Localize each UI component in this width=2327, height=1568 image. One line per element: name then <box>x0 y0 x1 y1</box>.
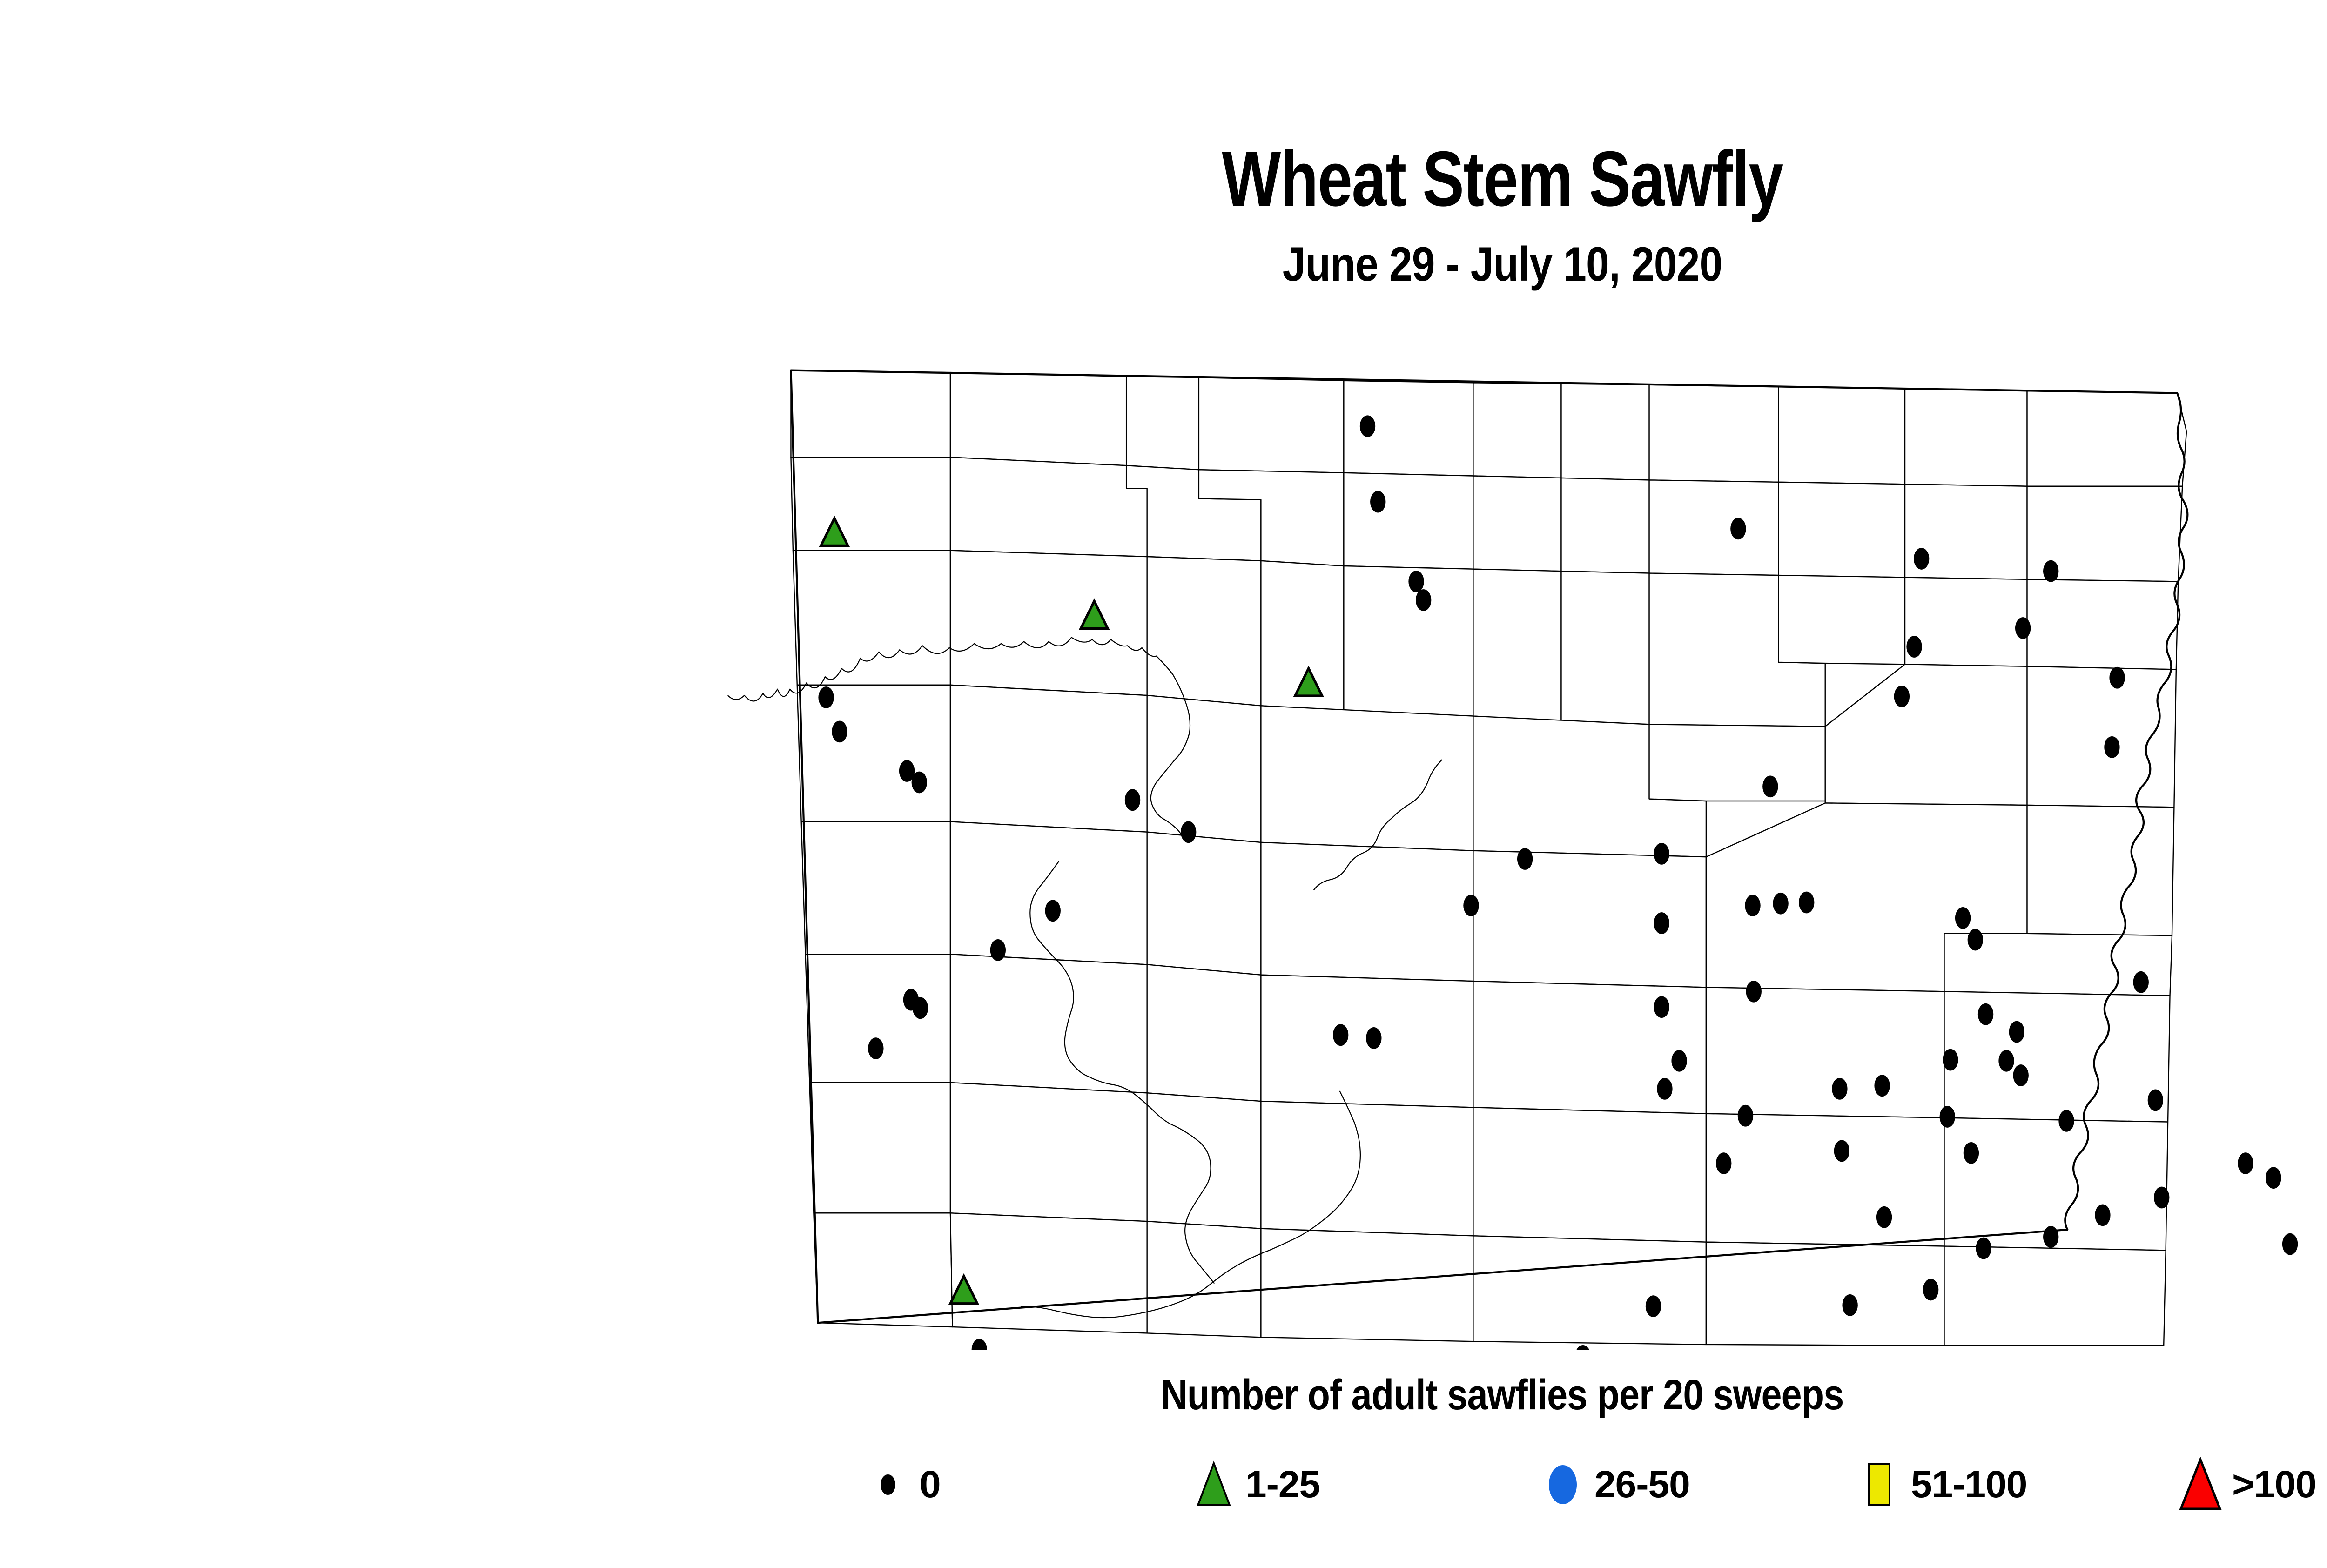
map-marker-0 <box>1976 1238 1991 1259</box>
county <box>1706 987 1944 1117</box>
county <box>797 685 950 822</box>
map-marker-0 <box>1416 589 1431 611</box>
county <box>1344 473 1473 569</box>
map-marker-0 <box>1842 1294 1857 1316</box>
map-marker-0 <box>1654 912 1669 934</box>
legend: 0 1-25 26-50 51-100 >100 <box>866 1440 2253 1529</box>
county <box>1649 480 1779 575</box>
county <box>950 457 1147 557</box>
county <box>1261 842 1473 981</box>
county <box>1706 1114 1944 1246</box>
county <box>791 457 950 550</box>
yellow-square-icon <box>1857 1457 1902 1513</box>
map-marker-0 <box>2133 971 2149 993</box>
map-marker-0 <box>2009 1021 2024 1043</box>
county <box>1473 476 1561 571</box>
map-svg <box>712 354 2327 1350</box>
county <box>1649 724 1825 801</box>
map-marker-0 <box>1799 892 1814 914</box>
map-marker-0 <box>1762 775 1778 797</box>
map-marker-0 <box>1463 895 1479 916</box>
county <box>1261 1101 1473 1236</box>
map-marker-0 <box>972 1339 987 1350</box>
map-marker-0 <box>1408 571 1424 592</box>
county <box>791 370 950 458</box>
map-marker-0 <box>1517 848 1533 870</box>
county <box>2027 391 2187 486</box>
county <box>1126 377 1199 470</box>
county <box>1147 557 1261 706</box>
county <box>1344 566 1473 716</box>
county <box>1561 478 1649 573</box>
county <box>801 821 950 954</box>
map-marker-0 <box>1894 686 1910 707</box>
map-marker-0 <box>1333 1024 1348 1046</box>
map-marker-0 <box>1968 929 1983 951</box>
legend-label-low: 1-25 <box>1245 1463 1320 1507</box>
map-marker-0 <box>1773 893 1788 915</box>
county <box>2027 579 2179 670</box>
county <box>793 551 950 685</box>
map-marker-0 <box>990 939 1006 961</box>
county <box>950 685 1147 832</box>
county <box>1779 575 1905 664</box>
county <box>1905 577 2027 666</box>
map-marker-0 <box>1745 895 1760 916</box>
map-marker-0 <box>1923 1279 1938 1301</box>
title-block: Wheat Stem Sawfly June 29 - July 10, 202… <box>0 140 2327 289</box>
county <box>1147 1221 1261 1337</box>
map-marker-0 <box>1874 1075 1890 1097</box>
map-marker-0 <box>1366 1027 1381 1049</box>
county <box>950 821 1147 964</box>
county <box>950 372 1126 465</box>
county <box>1473 1107 1706 1242</box>
map-marker-0 <box>2238 1152 2253 1174</box>
legend-item-mid[interactable]: 26-50 <box>1540 1440 1690 1529</box>
legend-heading: Number of adult sawflies per 20 sweeps <box>210 1371 2327 1420</box>
county <box>809 1083 950 1213</box>
county <box>1779 482 1905 578</box>
map-marker-0 <box>2266 1167 2281 1189</box>
page-title: Wheat Stem Sawfly <box>301 140 2327 218</box>
county <box>1147 832 1261 975</box>
map-marker-0 <box>1955 907 1971 929</box>
legend-item-zero[interactable]: 0 <box>866 1440 941 1529</box>
legend-item-high[interactable]: 51-100 <box>1857 1440 2027 1529</box>
legend-label-veryhigh: >100 <box>2232 1463 2316 1507</box>
county <box>1649 385 1779 482</box>
map-marker-0 <box>1914 548 1929 570</box>
map-marker-0 <box>1978 1003 1993 1025</box>
county <box>1561 384 1649 480</box>
map-marker-0 <box>1834 1140 1849 1162</box>
county <box>2027 805 2174 935</box>
map-marker-0 <box>1125 789 1140 811</box>
map-marker-0 <box>1746 981 1762 1003</box>
county <box>1473 383 1561 478</box>
legend-item-veryhigh[interactable]: >100 <box>2178 1440 2316 1529</box>
map-marker-0 <box>1370 491 1385 513</box>
map-marker-0 <box>868 1037 883 1059</box>
map-marker-0 <box>2282 1233 2298 1255</box>
county-layer <box>791 370 2186 1346</box>
black-dot-icon <box>866 1457 910 1513</box>
county <box>1473 1236 1706 1345</box>
map-marker-0 <box>1575 1345 1591 1350</box>
county <box>1473 569 1561 721</box>
map-marker-0 <box>1943 1049 1958 1071</box>
map-marker-0 <box>2043 1226 2058 1248</box>
legend-label-zero: 0 <box>920 1463 941 1507</box>
map-marker-0 <box>1940 1106 1955 1128</box>
county <box>1147 1093 1261 1228</box>
map-marker-0 <box>818 686 834 708</box>
county <box>950 1083 1147 1221</box>
map-marker-0 <box>1738 1105 1753 1127</box>
county <box>1147 695 1261 842</box>
county <box>1199 377 1344 473</box>
county <box>1261 1229 1473 1341</box>
map-marker-0 <box>1654 996 1669 1018</box>
county <box>1147 964 1261 1101</box>
county <box>950 1213 1147 1333</box>
map-marker-0 <box>1671 1050 1687 1072</box>
green-triangle-icon <box>1191 1457 1236 1513</box>
map-marker-0 <box>1657 1078 1672 1100</box>
county <box>2027 666 2176 808</box>
map-marker-0 <box>832 721 847 743</box>
blue-circle-icon <box>1540 1457 1585 1513</box>
county <box>1561 571 1649 724</box>
map-marker-0 <box>2148 1090 2163 1111</box>
map-marker-0 <box>1998 1050 2014 1072</box>
map-marker-0 <box>1906 636 1922 658</box>
map-marker-0 <box>1876 1206 1892 1228</box>
county <box>1825 664 2027 805</box>
north-dakota-map <box>712 354 2327 1350</box>
map-marker-0 <box>913 997 928 1019</box>
page-root: Wheat Stem Sawfly June 29 - July 10, 202… <box>0 0 2327 1568</box>
legend-label-high: 51-100 <box>1911 1463 2027 1507</box>
county <box>806 954 950 1083</box>
county <box>950 954 1147 1093</box>
county <box>1779 387 1905 484</box>
map-marker-0 <box>2013 1064 2028 1086</box>
county <box>1261 706 1473 850</box>
map-marker-0 <box>1716 1152 1731 1174</box>
county <box>1944 991 2170 1122</box>
map-marker-0 <box>1964 1142 1979 1164</box>
county <box>1944 1246 2166 1346</box>
red-triangle-icon <box>2178 1457 2223 1513</box>
map-marker-0 <box>2058 1110 2074 1132</box>
map-marker-0 <box>2095 1204 2110 1226</box>
map-marker-0 <box>1654 843 1669 865</box>
map-marker-0 <box>1730 518 1746 540</box>
county <box>1706 1242 1944 1346</box>
map-marker-0 <box>2154 1187 2169 1209</box>
county <box>950 551 1147 695</box>
county <box>1473 851 1706 988</box>
county <box>1905 389 2027 486</box>
page-subtitle: June 29 - July 10, 2020 <box>210 240 2327 289</box>
legend-label-mid: 26-50 <box>1594 1463 1690 1507</box>
map-marker-0 <box>2104 736 2119 758</box>
legend-item-low[interactable]: 1-25 <box>1191 1440 1320 1529</box>
map-marker-0 <box>1360 415 1375 437</box>
map-marker-0 <box>1832 1078 1847 1100</box>
map-marker-0 <box>1045 900 1061 922</box>
map-marker-0 <box>2015 617 2031 639</box>
map-marker-0 <box>1646 1295 1661 1317</box>
county <box>814 1213 952 1327</box>
map-marker-0 <box>2109 667 2125 689</box>
map-marker-0 <box>1181 821 1196 843</box>
map-marker-0 <box>912 772 927 794</box>
map-marker-0 <box>2043 560 2058 582</box>
